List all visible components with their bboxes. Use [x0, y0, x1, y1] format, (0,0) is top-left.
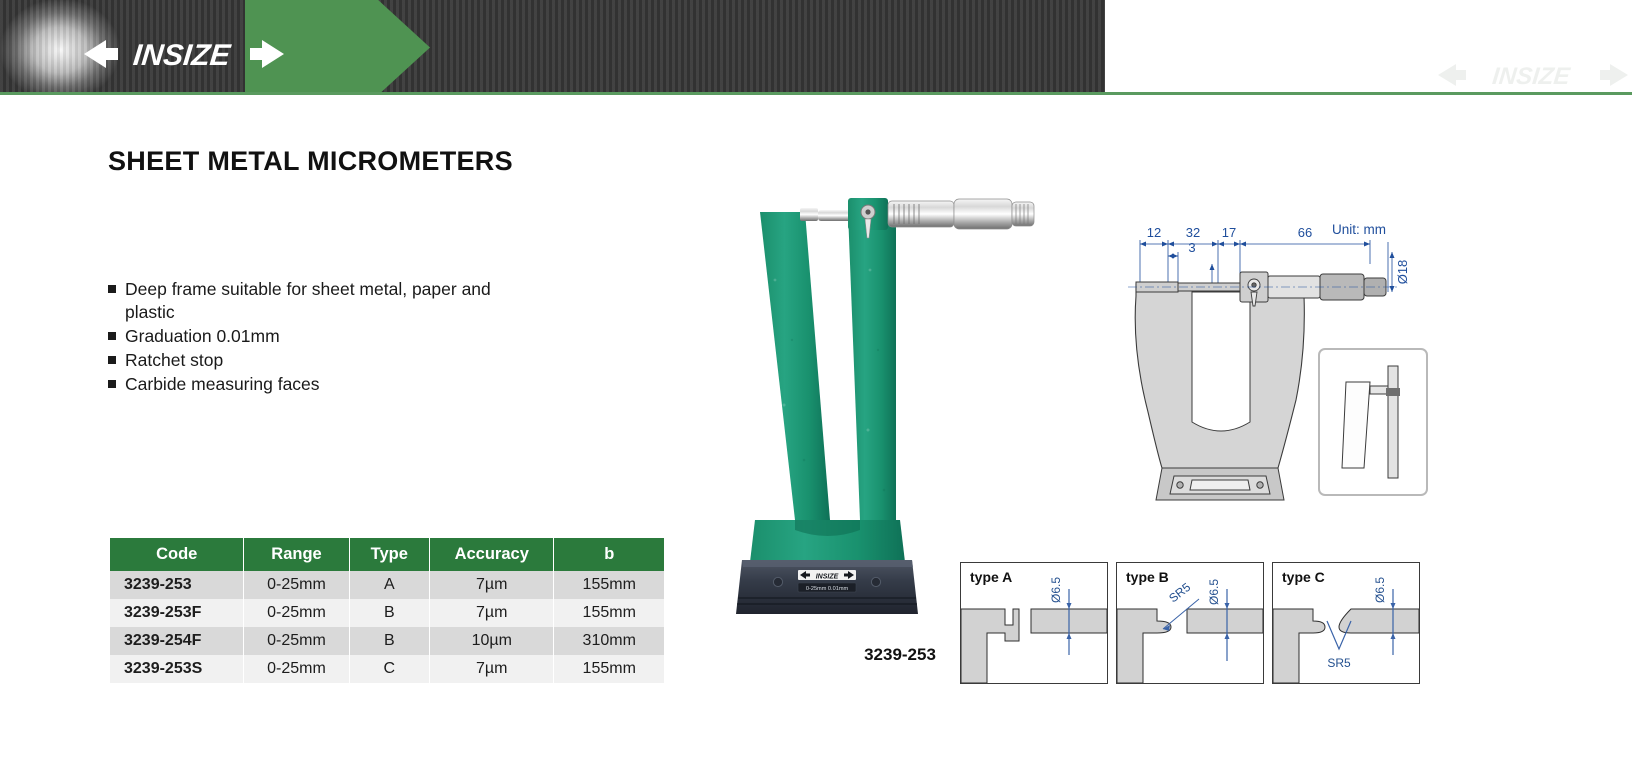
- list-item: Ratchet stop: [108, 349, 528, 372]
- type-c-radius: SR5: [1327, 656, 1351, 670]
- feature-text: Deep frame suitable for sheet metal, pap…: [125, 278, 528, 324]
- column-header-code: Code: [110, 538, 244, 571]
- type-c-label: type C: [1282, 569, 1325, 585]
- cell-type: C: [349, 655, 429, 683]
- feature-list: Deep frame suitable for sheet metal, pap…: [108, 278, 528, 397]
- cell-type: A: [349, 571, 429, 599]
- insize-logo-text: INSIZE: [132, 39, 233, 72]
- cell-accuracy: 7µm: [430, 655, 554, 683]
- cell-type: B: [349, 599, 429, 627]
- list-item: Deep frame suitable for sheet metal, pap…: [108, 278, 528, 324]
- dim-diameter-18: Ø18: [1395, 260, 1410, 285]
- column-header-accuracy: Accuracy: [430, 538, 554, 571]
- anvil-left: [800, 208, 818, 221]
- cell-range: 0-25mm: [244, 655, 349, 683]
- column-header-range: Range: [244, 538, 349, 571]
- type-detail-a: type A Ø6.5: [960, 562, 1108, 684]
- page-header: INSIZE INSIZE: [0, 0, 1632, 95]
- cell-accuracy: 7µm: [430, 599, 554, 627]
- cell-b: 155mm: [554, 599, 664, 627]
- table-row: 3239-253 0-25mm A 7µm 155mm: [110, 571, 664, 599]
- dim-32: 32: [1186, 225, 1200, 240]
- bullet-icon: [108, 332, 116, 340]
- list-item: Carbide measuring faces: [108, 373, 528, 396]
- specification-table: Code Range Type Accuracy b 3239-253 0-25…: [110, 538, 664, 683]
- plate-logo-text: INSIZE: [816, 574, 839, 581]
- plate-spec-text: 0-25mm 0.01mm: [806, 586, 849, 592]
- type-a-label: type A: [970, 569, 1012, 585]
- insize-watermark: INSIZE: [1438, 58, 1628, 92]
- bullet-icon: [108, 380, 116, 388]
- cell-code: 3239-253: [110, 571, 244, 599]
- feature-text: Ratchet stop: [125, 349, 223, 372]
- drawing-base-plate: [1156, 468, 1284, 500]
- type-b-radius: SR5: [1166, 580, 1193, 606]
- cell-b: 155mm: [554, 655, 664, 683]
- frame-slot: [1192, 292, 1250, 431]
- header-green-rule: [0, 92, 1632, 95]
- feature-text: Graduation 0.01mm: [125, 325, 280, 348]
- dim-3: 3: [1188, 240, 1195, 255]
- cell-type: B: [349, 627, 429, 655]
- micrometer-frame: [750, 212, 905, 562]
- type-c-diameter: Ø6.5: [1373, 577, 1387, 603]
- dim-12: 12: [1147, 225, 1161, 240]
- type-detail-c: type C SR5 Ø6.5: [1272, 562, 1420, 684]
- type-detail-b: type B SR5 Ø6.5: [1116, 562, 1264, 684]
- column-header-type: Type: [349, 538, 429, 571]
- table-row: 3239-253F 0-25mm B 7µm 155mm: [110, 599, 664, 627]
- detail-inset-box: [1318, 348, 1428, 496]
- insize-logo: INSIZE: [84, 34, 284, 74]
- dim-17: 17: [1222, 225, 1236, 240]
- bullet-icon: [108, 356, 116, 364]
- cell-b: 155mm: [554, 571, 664, 599]
- type-b-diameter: Ø6.5: [1207, 579, 1221, 605]
- dim-66: 66: [1298, 225, 1312, 240]
- table-row: 3239-253S 0-25mm C 7µm 155mm: [110, 655, 664, 683]
- cell-accuracy: 7µm: [430, 571, 554, 599]
- table-header-row: Code Range Type Accuracy b: [110, 538, 664, 571]
- type-b-label: type B: [1126, 569, 1169, 585]
- cell-code: 3239-253S: [110, 655, 244, 683]
- cell-range: 0-25mm: [244, 627, 349, 655]
- cell-b: 310mm: [554, 627, 664, 655]
- page-title: SHEET METAL MICROMETERS: [108, 146, 513, 177]
- cell-code: 3239-254F: [110, 627, 244, 655]
- cell-range: 0-25mm: [244, 571, 349, 599]
- type-detail-row: type A Ø6.5 type B SR5: [960, 562, 1430, 682]
- insize-watermark-text: INSIZE: [1491, 63, 1572, 90]
- cell-accuracy: 10µm: [430, 627, 554, 655]
- type-a-diameter: Ø6.5: [1049, 577, 1063, 603]
- list-item: Graduation 0.01mm: [108, 325, 528, 348]
- cell-range: 0-25mm: [244, 599, 349, 627]
- cell-code: 3239-253F: [110, 599, 244, 627]
- table-row: 3239-254F 0-25mm B 10µm 310mm: [110, 627, 664, 655]
- column-header-b: b: [554, 538, 664, 571]
- base-plate: INSIZE 0-25mm 0.01mm: [736, 560, 918, 614]
- bullet-icon: [108, 285, 116, 293]
- feature-text: Carbide measuring faces: [125, 373, 320, 396]
